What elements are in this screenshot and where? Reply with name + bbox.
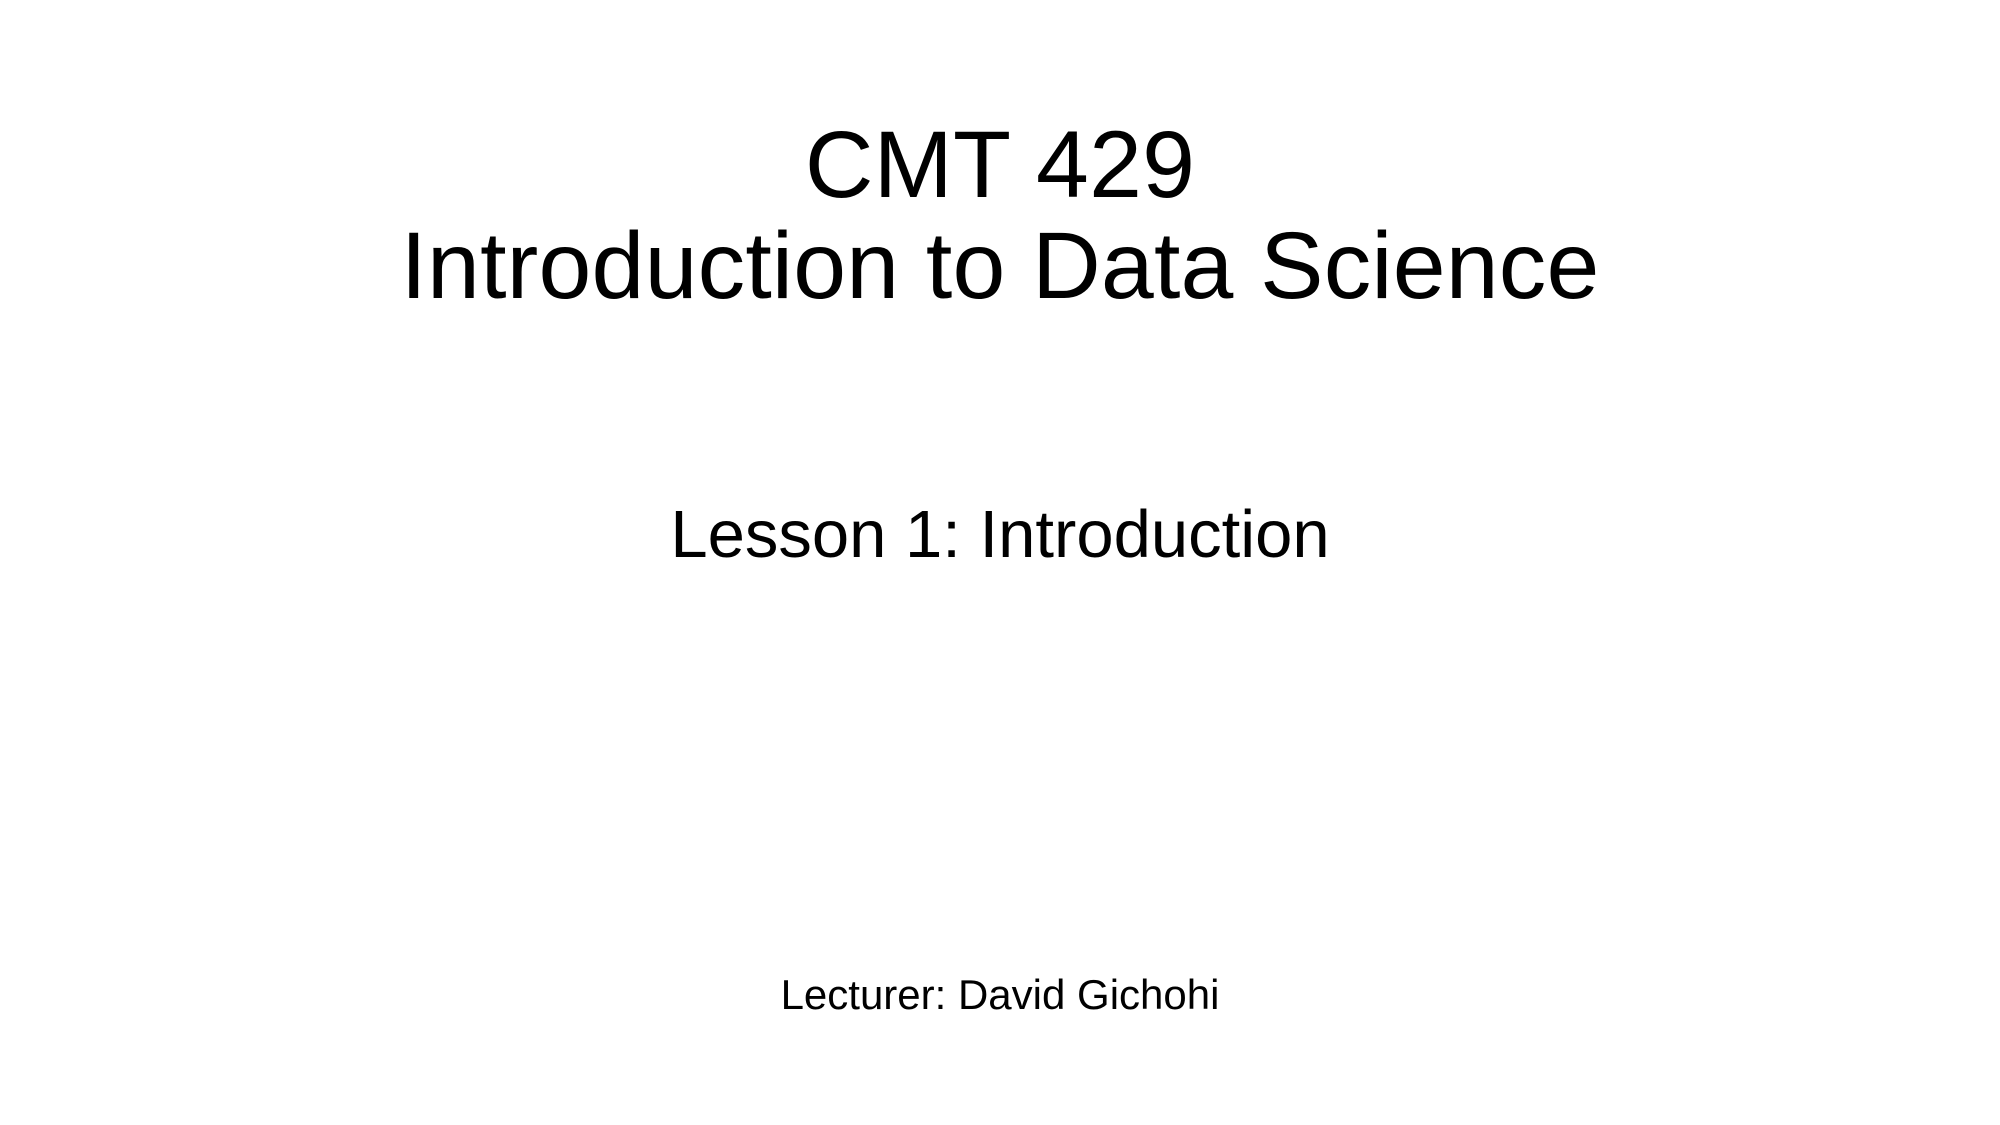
presenter-credit-text: Lecturer: David Gichohi — [0, 972, 2000, 1018]
slide-presenter-credit: Lecturer: David Gichohi — [0, 972, 2000, 1018]
slide-title: CMT 429 Introduction to Data Science — [0, 118, 2000, 314]
slide-subtitle: Lesson 1: Introduction — [0, 500, 2000, 570]
title-line-course-name: Introduction to Data Science — [0, 219, 2000, 314]
title-line-course-code: CMT 429 — [0, 118, 2000, 213]
subtitle-line-lesson: Lesson 1: Introduction — [0, 500, 2000, 570]
slide-blank-content-area — [0, 620, 2000, 960]
presentation-slide: CMT 429 Introduction to Data Science Les… — [0, 0, 2000, 1125]
